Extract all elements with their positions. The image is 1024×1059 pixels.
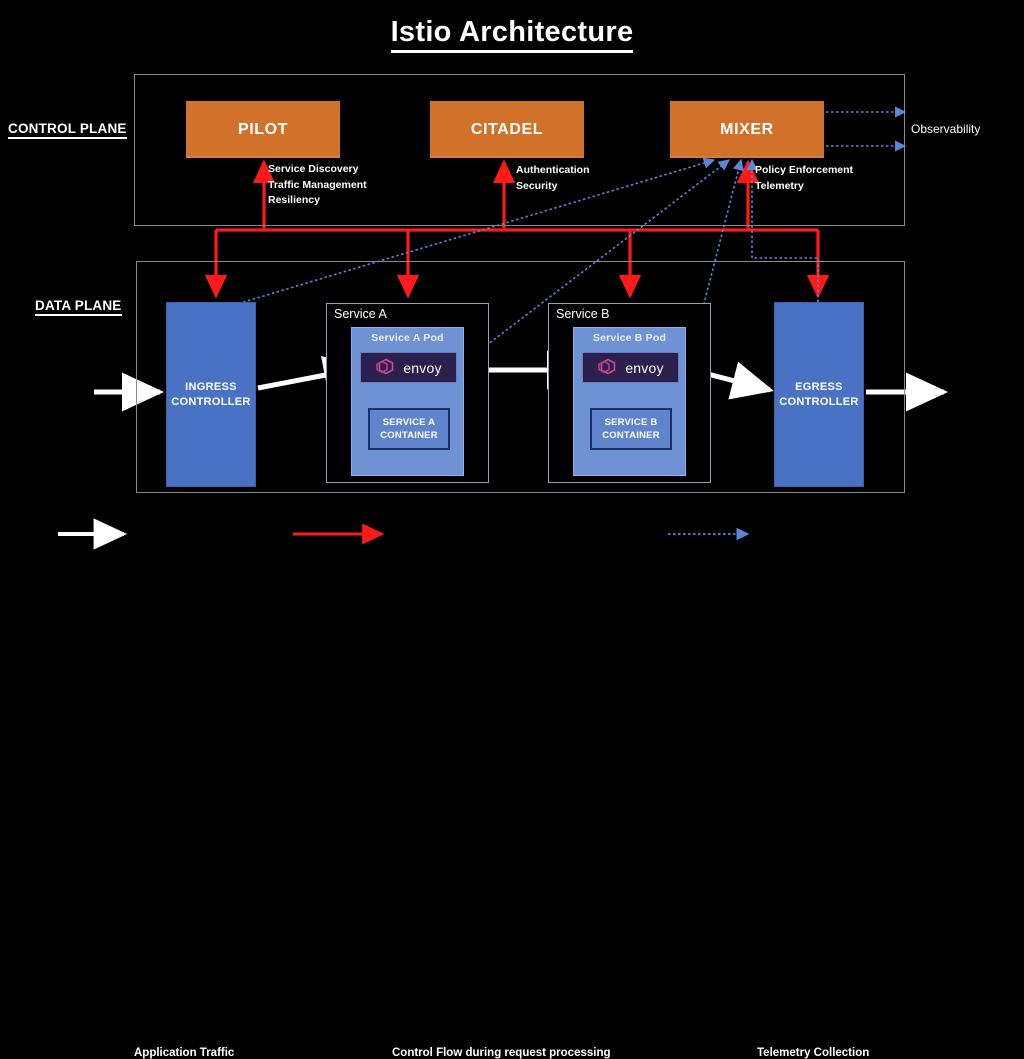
ingress-controller-line-1: INGRESS [171, 380, 250, 395]
pilot-component[interactable]: PILOT [186, 101, 340, 158]
envoy-logo-icon [375, 357, 399, 379]
mixer-component[interactable]: MIXER [670, 101, 824, 158]
observability-label: Observability [911, 122, 980, 136]
pilot-annotation-line-3: Resiliency [268, 193, 367, 209]
egress-controller-line-2: CONTROLLER [779, 395, 858, 410]
page-title-text: Istio Architecture [391, 16, 634, 53]
legend-control-flow-label: Control Flow during request processing [392, 1047, 611, 1059]
service-b-title: Service B [556, 307, 610, 321]
service-a-container-line-1: SERVICE A [380, 416, 438, 429]
service-a-pod[interactable]: Service A Pod envoy SERVICE A CONTAINER [351, 327, 464, 476]
service-b-envoy-proxy[interactable]: envoy [582, 352, 679, 383]
citadel-component[interactable]: CITADEL [430, 101, 584, 158]
legend-application-traffic-label: Application Traffic [134, 1047, 234, 1059]
pilot-label: PILOT [238, 121, 288, 139]
service-a-envoy-label: envoy [403, 360, 441, 376]
service-a-pod-title: Service A Pod [352, 332, 463, 344]
service-a-envoy-proxy[interactable]: envoy [360, 352, 457, 383]
pilot-annotation-line-2: Traffic Management [268, 178, 367, 194]
legend: Application Traffic Control Flow during … [0, 519, 1024, 553]
diagram-canvas: Istio Architecture [0, 0, 1024, 573]
ingress-controller[interactable]: INGRESS CONTROLLER [166, 302, 256, 487]
citadel-annotation-line-1: Authentication [516, 163, 590, 179]
service-a-title: Service A [334, 307, 387, 321]
page-title: Istio Architecture [0, 16, 1024, 49]
service-b-pod[interactable]: Service B Pod envoy SERVICE B CONTAINER [573, 327, 686, 476]
pilot-annotation-line-1: Service Discovery [268, 162, 367, 178]
data-plane-label-text: DATA PLANE [35, 298, 122, 316]
pilot-annotation: Service Discovery Traffic Management Res… [268, 162, 367, 209]
ingress-controller-line-2: CONTROLLER [171, 395, 250, 410]
service-a-container-line-2: CONTAINER [380, 429, 438, 442]
data-plane-label: DATA PLANE [35, 298, 122, 313]
service-b-container[interactable]: SERVICE B CONTAINER [590, 408, 672, 450]
citadel-label: CITADEL [471, 121, 543, 139]
citadel-annotation: Authentication Security [516, 163, 590, 194]
legend-telemetry-label: Telemetry Collection [757, 1047, 869, 1059]
mixer-annotation: Policy Enforcement Telemetry [755, 163, 853, 194]
envoy-logo-icon [597, 357, 621, 379]
mixer-label: MIXER [720, 121, 774, 139]
control-plane-label-text: CONTROL PLANE [8, 121, 127, 139]
service-b-pod-title: Service B Pod [574, 332, 685, 344]
egress-controller-line-1: EGRESS [779, 380, 858, 395]
mixer-annotation-line-1: Policy Enforcement [755, 163, 853, 179]
service-a-container[interactable]: SERVICE A CONTAINER [368, 408, 450, 450]
control-plane-label: CONTROL PLANE [8, 121, 127, 136]
service-b-envoy-label: envoy [625, 360, 663, 376]
mixer-annotation-line-2: Telemetry [755, 179, 853, 195]
service-b-container-line-1: SERVICE B [602, 416, 660, 429]
citadel-annotation-line-2: Security [516, 179, 590, 195]
egress-controller[interactable]: EGRESS CONTROLLER [774, 302, 864, 487]
service-b-container-line-2: CONTAINER [602, 429, 660, 442]
